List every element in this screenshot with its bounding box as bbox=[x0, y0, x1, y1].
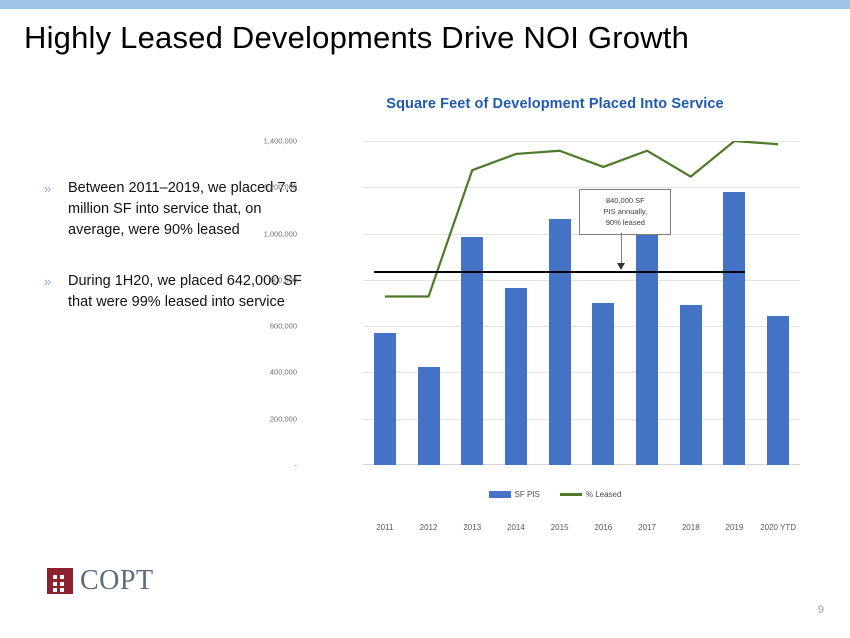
annotation-arrow-head-icon bbox=[617, 263, 625, 270]
chart-plot-area: -200,000400,000600,000800,0001,000,0001,… bbox=[363, 141, 800, 465]
y-axis-tick-label: 600,000 bbox=[227, 322, 297, 331]
copt-logo: COPT bbox=[47, 568, 154, 594]
bullet-marker-icon: » bbox=[44, 272, 51, 292]
page-title: Highly Leased Developments Drive NOI Gro… bbox=[24, 19, 814, 57]
annotation-line: 90% leased bbox=[583, 217, 667, 228]
bullet-list: » Between 2011–2019, we placed 7.5 milli… bbox=[40, 178, 310, 343]
legend-swatch-bar-icon bbox=[489, 491, 511, 498]
chart-title: Square Feet of Development Placed Into S… bbox=[305, 96, 805, 112]
legend-swatch-line-icon bbox=[560, 493, 582, 496]
annotation-line: 840,000 SF bbox=[583, 195, 667, 206]
logo-mark-icon bbox=[47, 568, 73, 594]
bullet-marker-icon: » bbox=[44, 179, 51, 199]
y-axis-tick-label: - bbox=[227, 461, 297, 470]
top-accent-bar bbox=[0, 0, 850, 9]
y-axis-tick-label: 800,000 bbox=[227, 275, 297, 284]
y-axis-tick-label: 1,000,000 bbox=[227, 229, 297, 238]
annotation-line: PIS annually, bbox=[583, 206, 667, 217]
chart-reference-line bbox=[374, 271, 746, 274]
y-axis-tick-label: 200,000 bbox=[227, 414, 297, 423]
chart-annotation-callout: 840,000 SFPIS annually,90% leased bbox=[579, 189, 671, 235]
y-axis-tick-label: 400,000 bbox=[227, 368, 297, 377]
legend-label: % Leased bbox=[586, 490, 622, 499]
chart-legend: SF PIS % Leased bbox=[305, 490, 805, 499]
x-axis-tick-label: 2020 YTD bbox=[748, 523, 808, 532]
y-axis-tick-label: 1,400,000 bbox=[227, 137, 297, 146]
chart-container: Square Feet of Development Placed Into S… bbox=[305, 88, 850, 508]
y-axis-tick-label: 1,200,000 bbox=[227, 183, 297, 192]
legend-item-pct-leased: % Leased bbox=[560, 490, 622, 499]
legend-item-sf-pis: SF PIS bbox=[489, 490, 540, 499]
annotation-arrow-stem-icon bbox=[621, 233, 622, 264]
legend-label: SF PIS bbox=[515, 490, 540, 499]
logo-wordmark: COPT bbox=[80, 568, 154, 594]
page-number: 9 bbox=[818, 604, 824, 616]
